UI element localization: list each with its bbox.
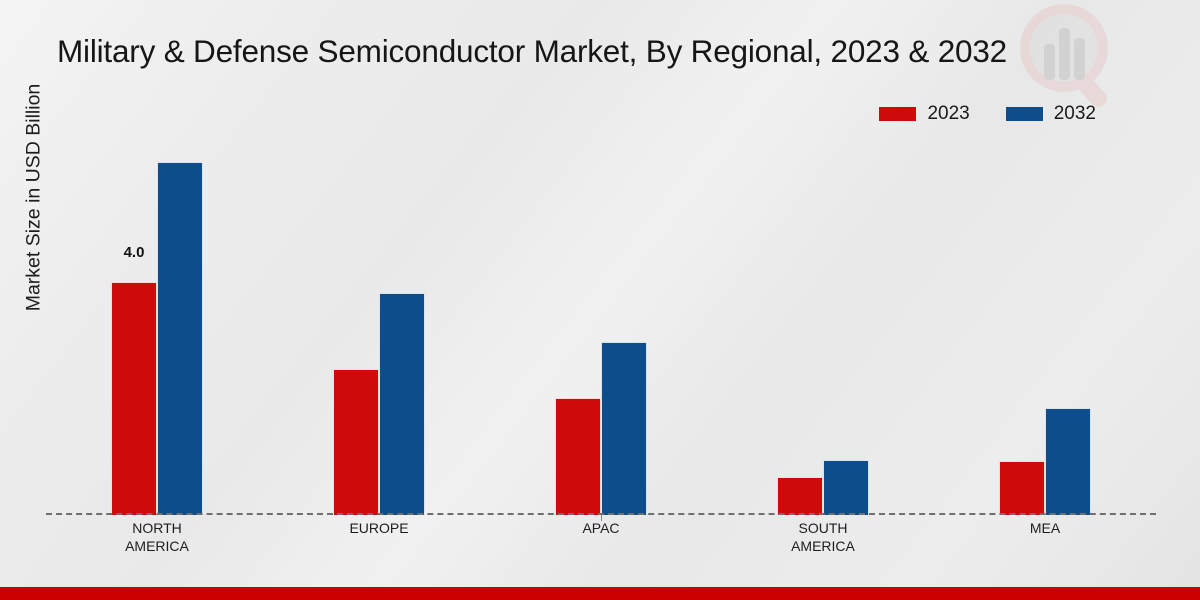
chart-legend: 2023 2032 <box>879 104 1096 123</box>
watermark-logo-icon <box>1008 0 1126 116</box>
legend-swatch-2023 <box>879 107 916 121</box>
footer-accent-band <box>0 587 1200 600</box>
x-tick-label-line: APAC <box>490 519 712 537</box>
y-axis-title: Market Size in USD Billion <box>23 28 46 368</box>
bar-2023-apac[interactable] <box>555 398 601 515</box>
x-axis-tick-mark <box>601 515 602 521</box>
bar-2023-south-america[interactable] <box>777 477 823 516</box>
chart-figure: Military & Defense Semiconductor Market,… <box>0 0 1200 600</box>
bar-2032-north-america[interactable] <box>157 162 203 515</box>
x-tick-label-line: AMERICA <box>712 537 934 555</box>
plot-area: 4.0 <box>46 130 1156 515</box>
bar-group <box>490 130 712 515</box>
legend-swatch-2032 <box>1006 107 1043 121</box>
bar-group <box>268 130 490 515</box>
bar-2032-mea[interactable] <box>1045 408 1091 515</box>
x-tick-label-europe: EUROPE <box>268 519 490 555</box>
x-tick-label-line: EUROPE <box>268 519 490 537</box>
x-tick-label-mea: MEA <box>934 519 1156 555</box>
bar-2023-europe[interactable] <box>333 369 379 515</box>
bar-pair <box>712 130 934 515</box>
bar-group <box>712 130 934 515</box>
bar-2032-south-america[interactable] <box>823 460 869 515</box>
bar-groups: 4.0 <box>46 130 1156 515</box>
bar-pair <box>268 130 490 515</box>
bar-2032-europe[interactable] <box>379 293 425 515</box>
bar-pair <box>46 130 268 515</box>
x-tick-label-line: AMERICA <box>46 537 268 555</box>
bar-pair <box>490 130 712 515</box>
x-tick-label-south-america: SOUTHAMERICA <box>712 519 934 555</box>
bar-2023-north-america[interactable] <box>111 282 157 515</box>
bar-2032-apac[interactable] <box>601 342 647 515</box>
chart-title: Military & Defense Semiconductor Market,… <box>57 33 1007 70</box>
x-tick-label-line: SOUTH <box>712 519 934 537</box>
bar-value-label: 4.0 <box>124 244 145 261</box>
legend-item-2023[interactable]: 2023 <box>879 104 969 123</box>
legend-label-2023: 2023 <box>927 104 969 123</box>
x-axis-tick-labels: NORTHAMERICAEUROPEAPACSOUTHAMERICAMEA <box>46 519 1156 555</box>
legend-item-2032[interactable]: 2032 <box>1006 104 1096 123</box>
bar-2023-mea[interactable] <box>999 461 1045 515</box>
bar-group: 4.0 <box>46 130 268 515</box>
legend-label-2032: 2032 <box>1054 104 1096 123</box>
x-tick-label-apac: APAC <box>490 519 712 555</box>
x-tick-label-line: MEA <box>934 519 1156 537</box>
bar-pair <box>934 130 1156 515</box>
bar-group <box>934 130 1156 515</box>
x-tick-label-north-america: NORTHAMERICA <box>46 519 268 555</box>
x-tick-label-line: NORTH <box>46 519 268 537</box>
